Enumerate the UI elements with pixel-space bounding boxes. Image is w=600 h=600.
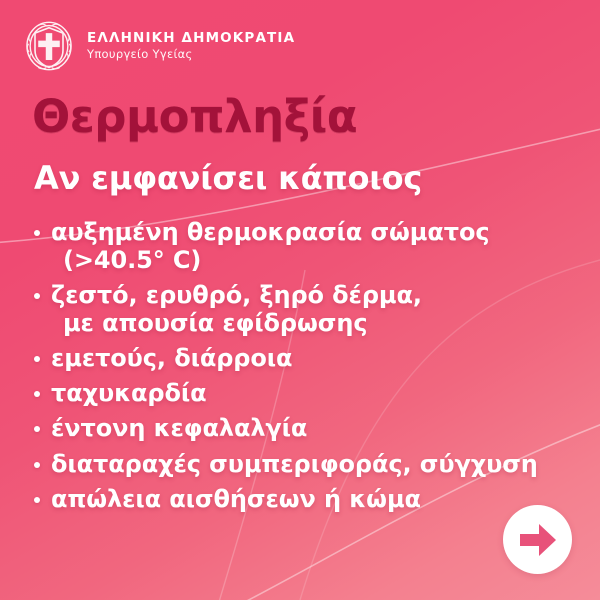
- symptom-list: αυξημένη θερμοκρασία σώματος (>40.5° C) …: [32, 218, 577, 520]
- symptom-line-1: εμετούς, διάρροια: [51, 344, 292, 372]
- ministry-text: ΕΛΛΗΝΙΚΗ ΔΗΜΟΚΡΑΤΙΑ Υπουργείο Υγείας: [87, 28, 295, 63]
- symptom-line-1: ταχυκαρδία: [51, 379, 207, 407]
- list-item: αυξημένη θερμοκρασία σώματος (>40.5° C): [32, 218, 577, 274]
- next-slide-button[interactable]: [503, 505, 572, 574]
- symptom-line-2: (>40.5° C): [51, 246, 577, 274]
- page-title: Θερμοπληξία: [32, 94, 357, 139]
- list-item: διαταραχές συμπεριφοράς, σύγχυση: [32, 450, 577, 478]
- ministry-name: Υπουργείο Υγείας: [87, 46, 295, 63]
- symptom-line-1: διαταραχές συμπεριφοράς, σύγχυση: [51, 450, 538, 478]
- list-item: ζεστό, ερυθρό, ξηρό δέρμα, με απουσία εφ…: [32, 281, 577, 337]
- list-item: ταχυκαρδία: [32, 379, 577, 407]
- page-subtitle: Αν εμφανίσει κάποιος: [34, 162, 422, 194]
- list-item: απώλεια αισθήσεων ή κώμα: [32, 485, 577, 513]
- symptom-line-1: ζεστό, ερυθρό, ξηρό δέρμα,: [51, 281, 422, 309]
- ministry-header: ΕΛΛΗΝΙΚΗ ΔΗΜΟΚΡΑΤΙΑ Υπουργείο Υγείας: [22, 18, 295, 74]
- organization-name: ΕΛΛΗΝΙΚΗ ΔΗΜΟΚΡΑΤΙΑ: [87, 30, 295, 46]
- arrow-right-icon: [519, 523, 557, 557]
- symptom-line-2: με απουσία εφίδρωσης: [51, 309, 577, 337]
- symptom-line-1: απώλεια αισθήσεων ή κώμα: [51, 485, 421, 513]
- poster-slide: ΕΛΛΗΝΙΚΗ ΔΗΜΟΚΡΑΤΙΑ Υπουργείο Υγείας Θερ…: [0, 0, 600, 600]
- greek-coat-of-arms-icon: [22, 18, 76, 74]
- list-item: εμετούς, διάρροια: [32, 344, 577, 372]
- symptom-line-1: έντονη κεφαλαλγία: [51, 414, 307, 442]
- list-item: έντονη κεφαλαλγία: [32, 414, 577, 442]
- symptom-line-1: αυξημένη θερμοκρασία σώματος: [51, 218, 489, 246]
